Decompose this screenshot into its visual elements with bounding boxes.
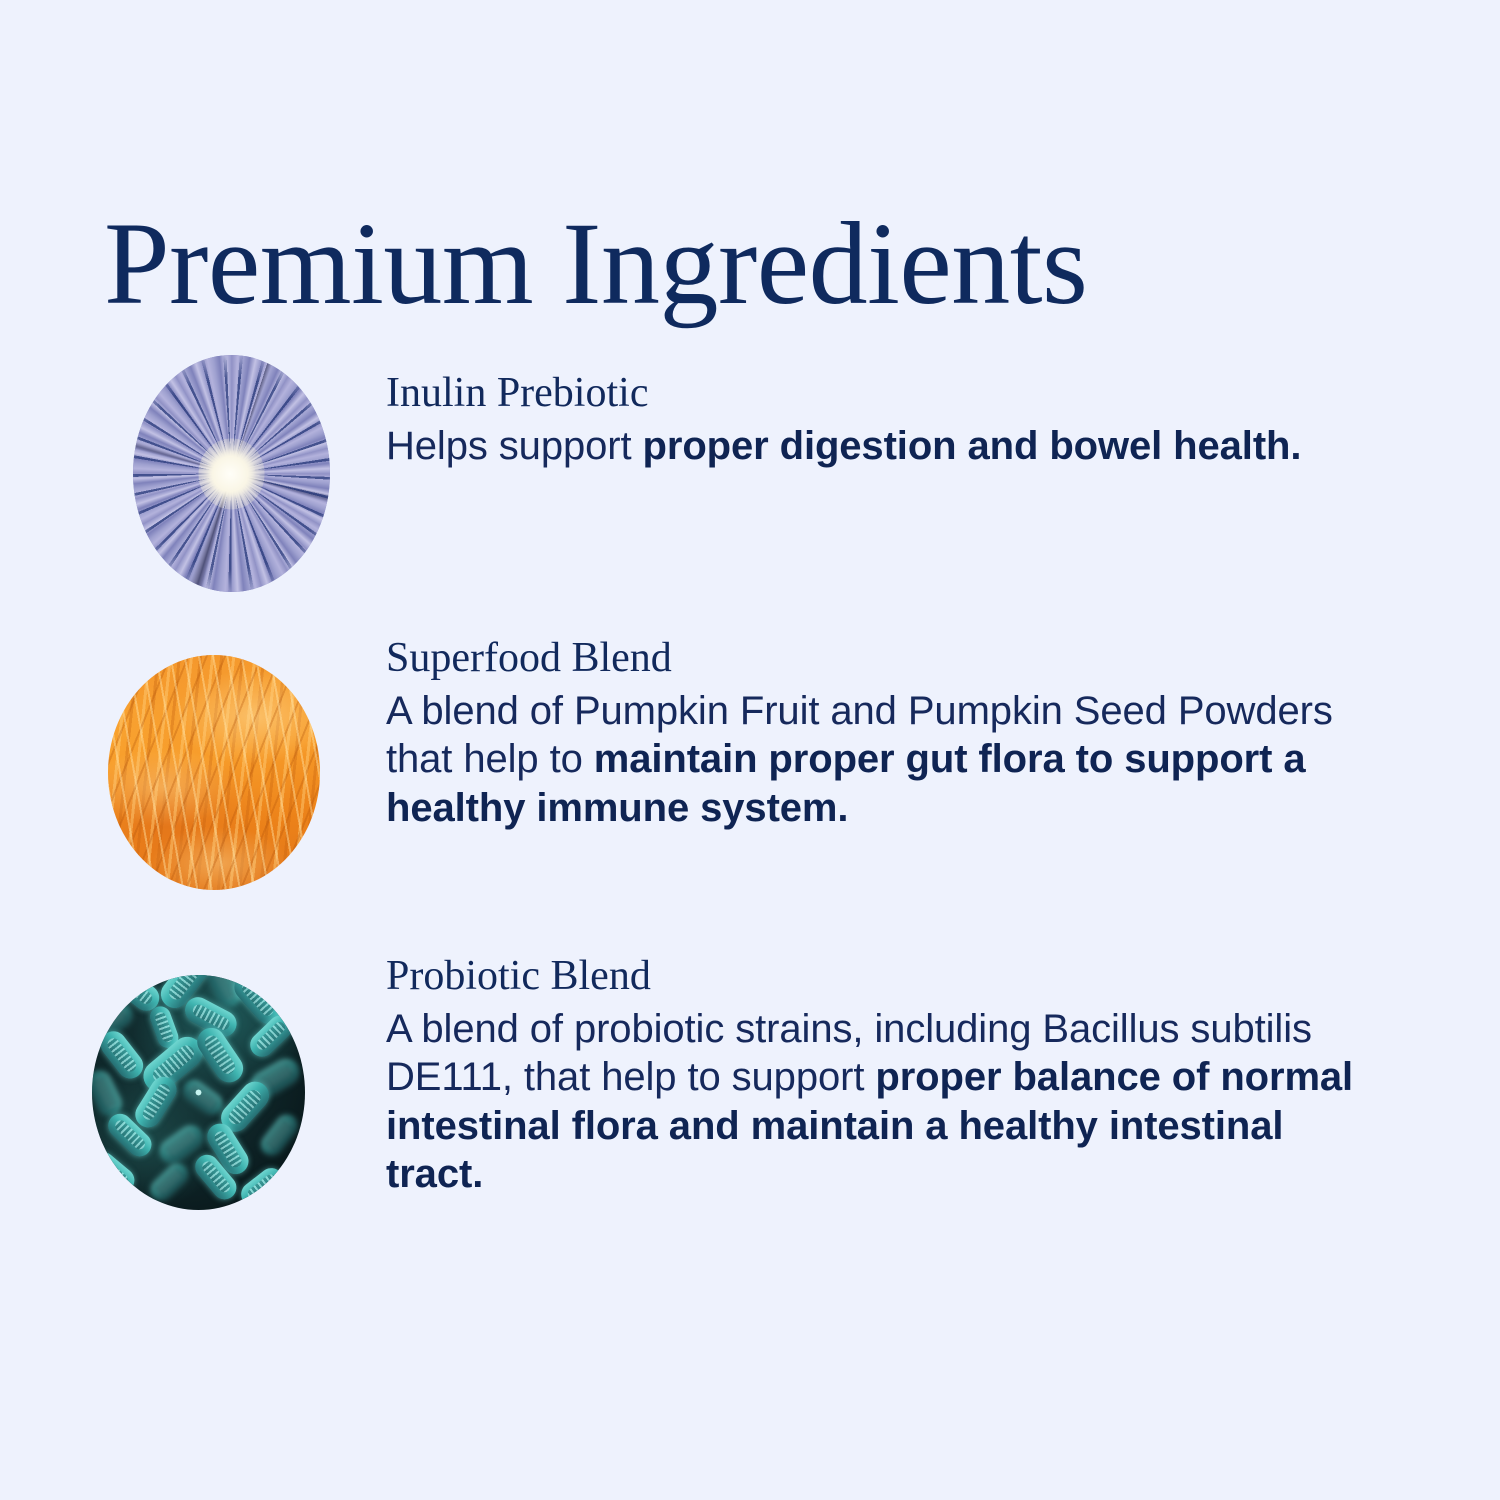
pumpkin-flesh-thumbnail — [108, 655, 320, 890]
ingredient-description: Helps support proper digestion and bowel… — [386, 422, 1376, 470]
probiotic-bacteria-thumbnail — [92, 975, 305, 1210]
ingredient-name: Superfood Blend — [386, 637, 1376, 680]
bacteria-particles-icon — [92, 975, 305, 1210]
ingredient-text-block: Superfood Blend A blend of Pumpkin Fruit… — [386, 637, 1376, 832]
ingredients-infographic: Premium Ingredients Inulin Prebiotic Hel… — [0, 0, 1500, 1500]
ingredient-description: A blend of probiotic strains, including … — [386, 1005, 1376, 1199]
page-title: Premium Ingredients — [104, 205, 1404, 323]
ingredient-text-block: Probiotic Blend A blend of probiotic str… — [386, 955, 1376, 1198]
ingredient-name: Probiotic Blend — [386, 955, 1376, 998]
ingredient-name: Inulin Prebiotic — [386, 372, 1376, 415]
pumpkin-flesh-icon — [108, 655, 320, 890]
flower-dew-specks-icon — [133, 355, 330, 592]
bacteria-icon — [92, 975, 305, 1210]
flower-center-icon — [198, 438, 265, 509]
chicory-flower-thumbnail — [133, 355, 330, 592]
ingredient-description: A blend of Pumpkin Fruit and Pumpkin See… — [386, 687, 1376, 832]
chicory-flower-icon — [133, 355, 330, 592]
ingredient-text-block: Inulin Prebiotic Helps support proper di… — [386, 372, 1376, 470]
